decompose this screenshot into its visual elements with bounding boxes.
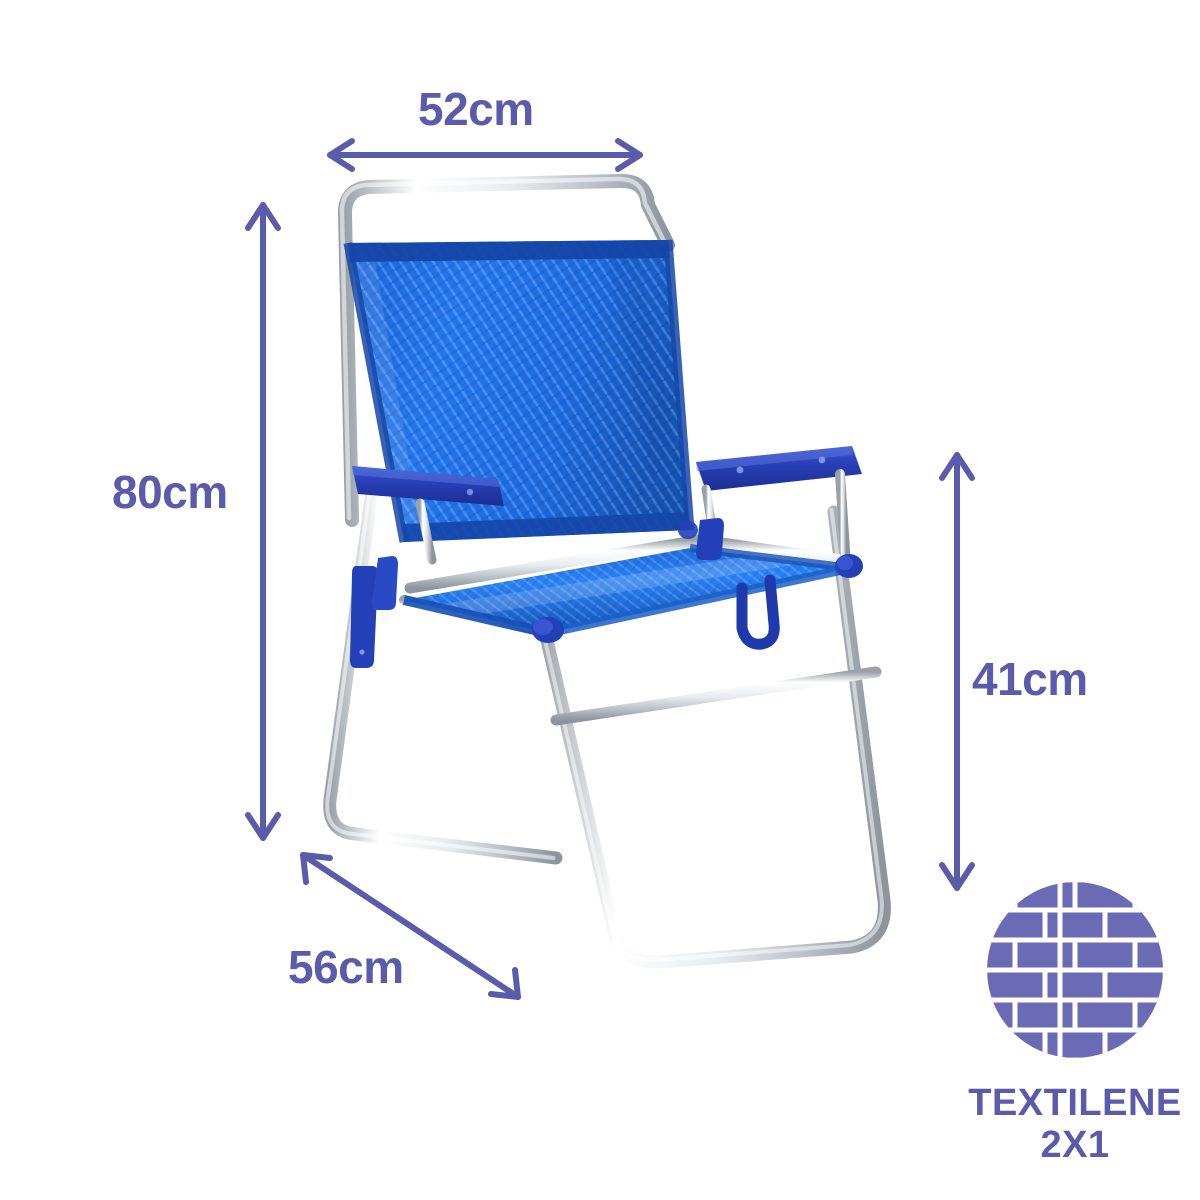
- textilene-badge-icon: [0, 0, 1200, 1200]
- badge-material-label: TEXTILENE: [955, 1082, 1195, 1125]
- badge-weave-label: 2X1: [955, 1124, 1195, 1167]
- textilene-weave-pattern: [985, 880, 1165, 1060]
- product-dimension-diagram: 52cm 80cm 41cm 56cm: [0, 0, 1200, 1200]
